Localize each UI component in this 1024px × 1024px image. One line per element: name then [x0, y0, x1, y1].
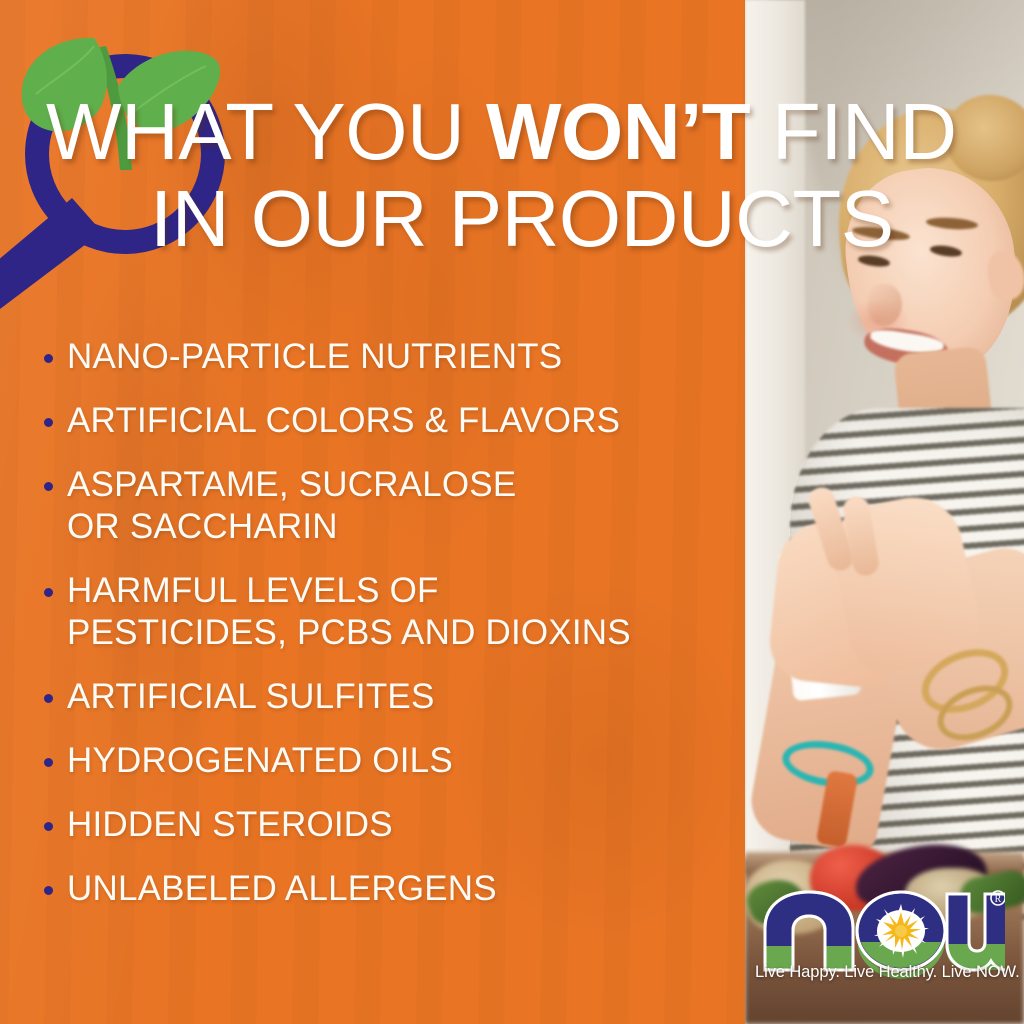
list-item: NANO-PARTICLE NUTRIENTS — [44, 336, 744, 378]
bullet-dot-icon — [44, 822, 53, 831]
poster-canvas: WHAT YOU WON’T FIND IN OUR PRODUCTS NANO… — [0, 0, 1024, 1024]
list-item-label: HIDDEN STEROIDS — [67, 804, 393, 846]
list-item-label: NANO-PARTICLE NUTRIENTS — [67, 336, 562, 378]
headline-emphasis: WON’T — [486, 87, 750, 176]
brand-tagline: Live Happy. Live Healthy. Live NOW. — [755, 963, 1005, 982]
bullet-dot-icon — [44, 694, 53, 703]
bullet-dot-icon — [44, 758, 53, 767]
list-item-label: ARTIFICIAL COLORS & FLAVORS — [67, 400, 620, 442]
list-item-label: HYDROGENATED OILS — [67, 740, 453, 782]
headline-line-2: IN OUR PRODUCTS — [0, 179, 1024, 259]
bullet-dot-icon — [44, 588, 53, 597]
page-title: WHAT YOU WON’T FIND IN OUR PRODUCTS — [0, 92, 1024, 259]
list-item-label: HARMFUL LEVELS OF PESTICIDES, PCBS AND D… — [67, 570, 631, 654]
list-item: ASPARTAME, SUCRALOSE OR SACCHARIN — [44, 464, 744, 548]
list-item: HIDDEN STEROIDS — [44, 804, 744, 846]
logo-letter-n — [765, 892, 853, 970]
headline-line1-post: FIND — [750, 87, 956, 176]
list-item: HARMFUL LEVELS OF PESTICIDES, PCBS AND D… — [44, 570, 744, 654]
list-item: ARTIFICIAL SULFITES — [44, 676, 744, 718]
bullet-dot-icon — [44, 886, 53, 895]
list-item: UNLABELED ALLERGENS — [44, 868, 744, 910]
bullet-dot-icon — [44, 482, 53, 491]
list-item-label: UNLABELED ALLERGENS — [67, 868, 497, 910]
list-item-label: ASPARTAME, SUCRALOSE OR SACCHARIN — [67, 464, 516, 548]
headline-line-1: WHAT YOU WON’T FIND — [0, 92, 1024, 172]
bullet-dot-icon — [44, 418, 53, 427]
svg-text:R: R — [995, 894, 1002, 905]
list-item-label: ARTIFICIAL SULFITES — [67, 676, 435, 718]
list-item: ARTIFICIAL COLORS & FLAVORS — [44, 400, 744, 442]
bullet-dot-icon — [44, 354, 53, 363]
exclusion-list: NANO-PARTICLE NUTRIENTS ARTIFICIAL COLOR… — [44, 336, 744, 932]
headline-line1-pre: WHAT YOU — [46, 87, 486, 176]
list-item: HYDROGENATED OILS — [44, 740, 744, 782]
